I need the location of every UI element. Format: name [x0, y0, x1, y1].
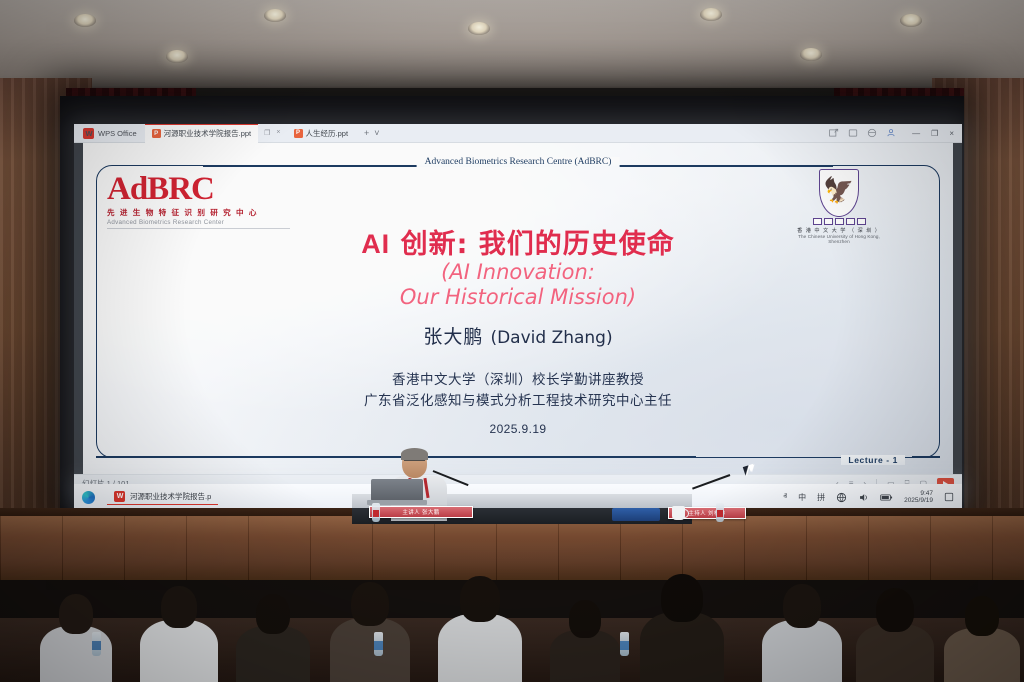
nameplate-speaker: 主讲人 张大鹏 [369, 506, 473, 518]
ceiling [0, 0, 1024, 96]
close-tab-icon[interactable]: × [276, 129, 280, 137]
conference-hall-scene: W WPS Office P 河源职业技术学院报告.ppt ❐ × P 人生经历… [0, 0, 1024, 682]
tab-label: 河源职业技术学院报告.ppt [164, 128, 252, 139]
share-icon[interactable] [829, 128, 839, 138]
audience-member [140, 586, 218, 682]
adbrc-logo: AdBRC 先 进 生 物 特 征 识 别 研 究 中 心 Advanced B… [107, 173, 290, 229]
audience-foreground [0, 560, 1024, 682]
ceiling-light [264, 9, 286, 22]
audience-head [161, 586, 197, 628]
audience-head [351, 582, 389, 626]
water-bottle [372, 503, 380, 522]
audience-water-bottle [620, 632, 629, 656]
system-tray[interactable]: ⱏ 中 拼 9:47 2025/9/19 [783, 490, 954, 505]
audience-member [550, 600, 620, 682]
taskbar-item-label: 河源职业技术学院报告.p [130, 491, 211, 502]
slide-canvas-area[interactable]: Advanced Biometrics Research Centre (AdB… [74, 143, 962, 474]
clock-date: 2025/9/19 [904, 497, 933, 504]
chevron-down-icon[interactable]: ˅ [374, 128, 379, 138]
slide-title-chinese-text: 创新: 我们的历史使命 [401, 229, 675, 260]
clock-time: 9:47 [904, 490, 933, 497]
audience-member [944, 598, 1020, 682]
new-tab-button[interactable]: + ˅ [355, 128, 389, 138]
ime-mode-indicator[interactable]: 中 [798, 492, 806, 503]
taskbar-pinned-apps[interactable] [82, 491, 107, 504]
ceiling-light [166, 50, 188, 63]
adbrc-english-name: Advanced Biometrics Research Center [107, 219, 290, 226]
volume-icon[interactable] [858, 492, 869, 503]
ceiling-light [700, 8, 722, 21]
slide-title-english-line2: Our Historical Mission) [83, 286, 953, 310]
audience-body [236, 626, 310, 682]
audience-member [762, 584, 842, 682]
audience-body [330, 618, 410, 682]
tab-presentation-1[interactable]: P 河源职业技术学院报告.ppt [145, 124, 259, 143]
ceiling-light [468, 22, 490, 35]
slide-footer-rule-right [912, 456, 940, 458]
wps-brand[interactable]: W WPS Office [74, 128, 145, 139]
battery-icon[interactable] [880, 492, 893, 503]
adbrc-chinese-name: 先 进 生 物 特 征 识 别 研 究 中 心 [107, 207, 290, 218]
audience-head [256, 594, 290, 634]
audience-member [40, 596, 112, 682]
slide-title-english-line1: (AI Innovation: [83, 261, 953, 285]
wps-tab-bar[interactable]: W WPS Office P 河源职业技术学院报告.ppt ❐ × P 人生经历… [74, 124, 962, 143]
ime-method-indicator[interactable]: 拼 [817, 492, 825, 503]
audience-member [856, 590, 934, 682]
tray-chevron-icon[interactable]: ⱏ [783, 492, 787, 502]
plus-icon[interactable]: + [364, 128, 369, 138]
tab-controls[interactable]: ❐ × [258, 129, 286, 137]
restore-tab-icon[interactable]: ❐ [264, 129, 270, 137]
account-icon[interactable] [886, 128, 896, 138]
slide-speaker: 张大鹏 (David Zhang) [83, 322, 953, 349]
taskbar-item-wps[interactable]: W 河源职业技术学院报告.p [107, 489, 218, 505]
window-icon[interactable] [848, 128, 858, 138]
audience-head [460, 576, 500, 622]
audience-member [236, 594, 310, 682]
audience-member [438, 578, 522, 682]
water-bottle [716, 503, 724, 522]
ceiling-light [800, 48, 822, 61]
speaker-name-chinese: 张大鹏 [423, 326, 483, 348]
network-icon[interactable] [836, 492, 847, 503]
cloud-icon[interactable] [867, 128, 877, 138]
minimize-button[interactable]: — [912, 129, 920, 138]
audience-head [876, 588, 914, 632]
presenter-laptop [371, 479, 423, 501]
tab-presentation-2[interactable]: P 人生经历.ppt [287, 124, 356, 143]
audience-head [965, 596, 999, 636]
wps-logo-icon: W [83, 128, 94, 139]
slide-header-title: Advanced Biometrics Research Centre (AdB… [417, 157, 620, 167]
audience-body [762, 620, 842, 682]
powerpoint-icon: P [294, 129, 303, 138]
maximize-button[interactable]: ❐ [931, 129, 938, 138]
window-toolbar[interactable]: — ❐ × [829, 128, 962, 138]
slide-1[interactable]: Advanced Biometrics Research Centre (AdB… [83, 143, 953, 474]
tab-label: 人生经历.ppt [306, 128, 349, 139]
window-controls[interactable]: — ❐ × [905, 129, 954, 138]
phoenix-icon: 🦅 [823, 179, 854, 204]
audience-member [640, 576, 724, 682]
wps-logo-icon: W [114, 491, 125, 502]
taskbar-clock[interactable]: 9:47 2025/9/19 [904, 490, 933, 505]
audience-water-bottle [92, 632, 101, 656]
audience-body [944, 628, 1020, 682]
audience-head [783, 584, 821, 628]
tea-cup [672, 506, 685, 520]
audience-body [856, 624, 934, 682]
presenter-glasses [404, 460, 425, 465]
slide-title-ai-prefix: AI [361, 229, 390, 259]
audience-body [140, 620, 218, 682]
notification-icon[interactable] [944, 492, 954, 502]
edge-icon[interactable] [82, 491, 95, 504]
slide-text-block: AI 创新: 我们的历史使命 (AI Innovation: Our Histo… [83, 229, 953, 436]
audience-water-bottle [374, 632, 383, 656]
slide-affiliation: 香港中文大学（深圳）校长学勤讲座教授 广东省泛化感知与模式分析工程技术研究中心主… [83, 370, 953, 412]
slide-footer-label: Lecture - 1 [841, 455, 905, 465]
ceiling-light [74, 14, 96, 27]
adbrc-wordmark: AdBRC [107, 173, 290, 206]
crest-scroll-banner [787, 218, 891, 225]
speaker-name-english: (David Zhang) [490, 328, 612, 348]
audience-body [438, 614, 522, 682]
crest-shield-icon: 🦅 [819, 169, 859, 217]
powerpoint-icon: P [152, 129, 161, 138]
slide-title-chinese: AI 创新: 我们的历史使命 [83, 229, 953, 260]
slide-date: 2025.9.19 [83, 422, 953, 436]
presenter-hair [401, 448, 428, 460]
affiliation-line-2: 广东省泛化感知与模式分析工程技术研究中心主任 [83, 391, 953, 412]
audience-head [59, 594, 93, 634]
wps-office-window[interactable]: W WPS Office P 河源职业技术学院报告.ppt ❐ × P 人生经历… [74, 124, 962, 492]
audience-member [330, 582, 410, 682]
affiliation-line-1: 香港中文大学（深圳）校长学勤讲座教授 [83, 370, 953, 391]
audience-body [640, 612, 724, 682]
audience-head [569, 600, 601, 638]
audience-body [40, 626, 112, 682]
wps-brand-label: WPS Office [98, 129, 137, 138]
close-button[interactable]: × [949, 129, 954, 138]
ceiling-light [900, 14, 922, 27]
desk-object [612, 508, 660, 521]
audience-head [661, 574, 703, 622]
